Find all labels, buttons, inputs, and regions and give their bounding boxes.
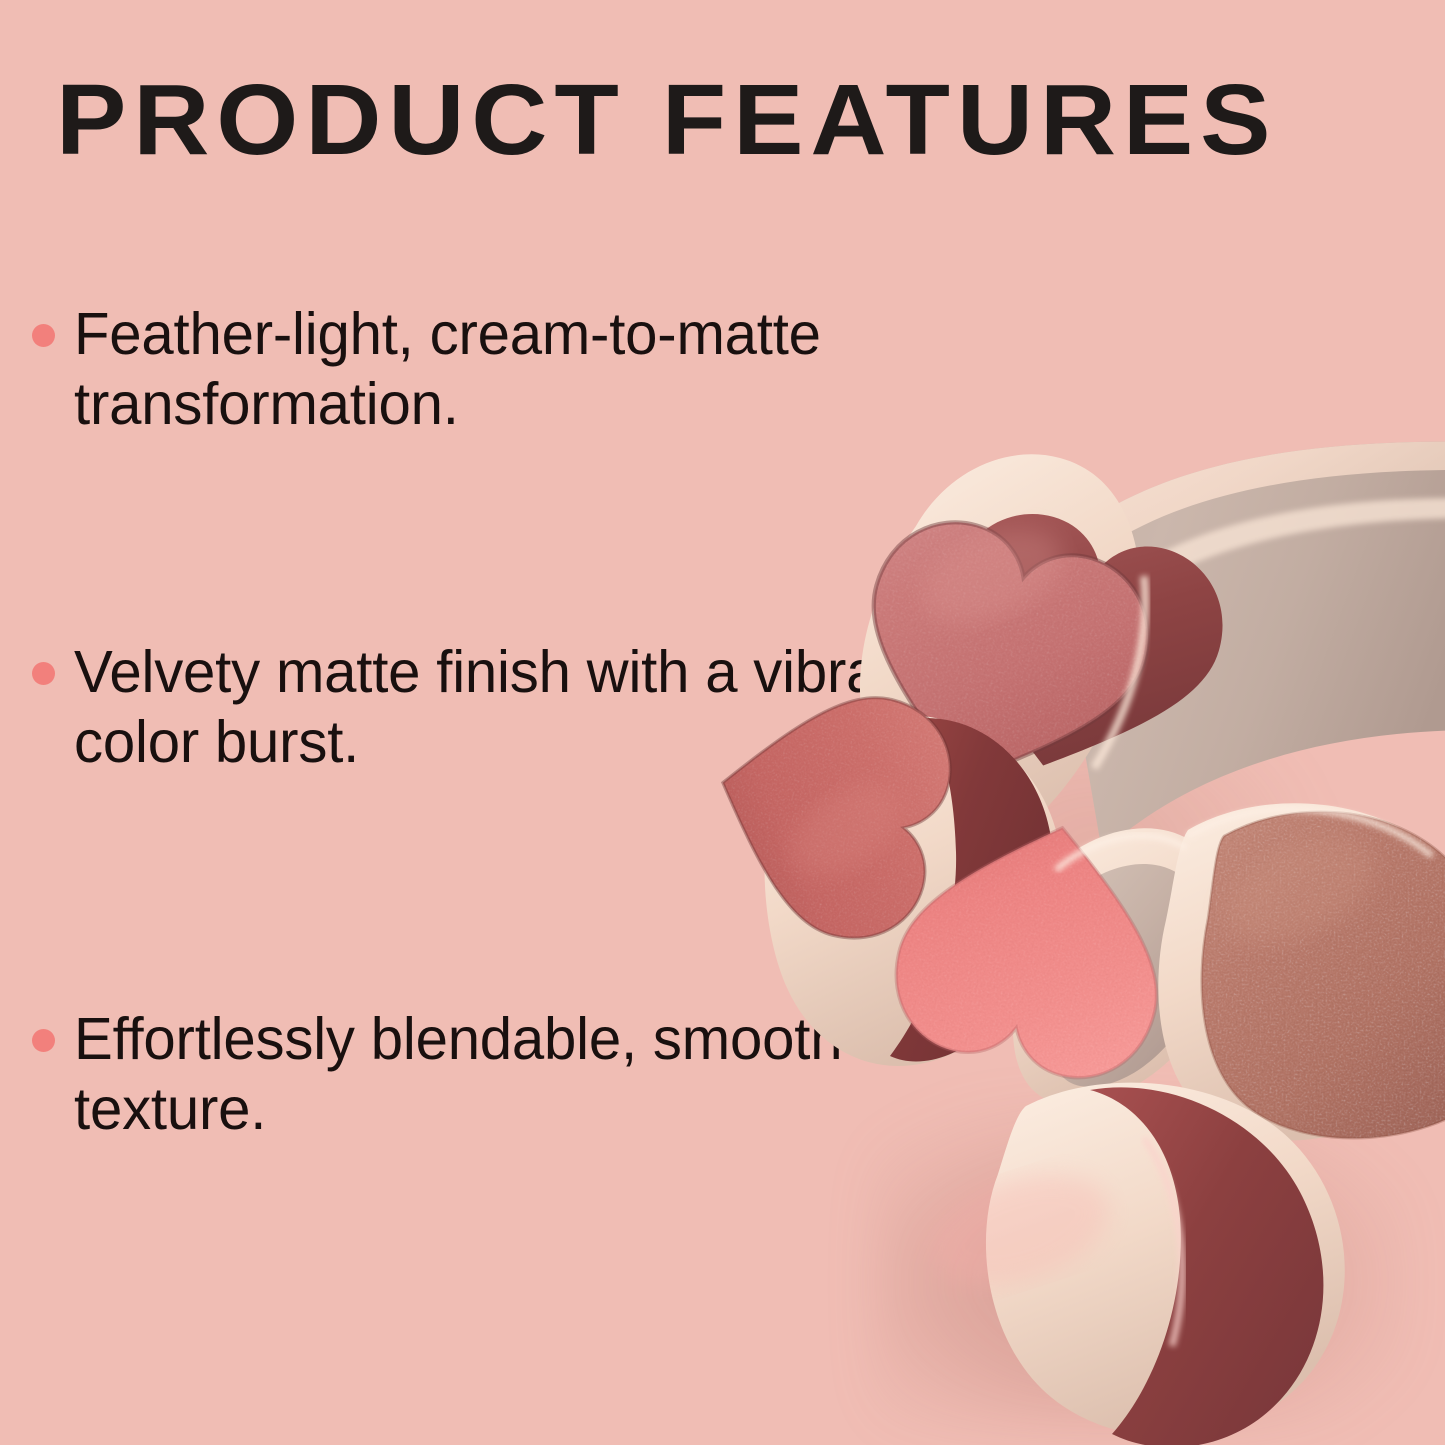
page-title: PRODUCT FEATURES xyxy=(56,70,1277,170)
heart-lipstick-illustration xyxy=(720,400,1445,1445)
heart-shade-terracotta-nude xyxy=(1202,812,1445,1139)
bullet-dot-icon xyxy=(32,662,55,685)
product-photo xyxy=(720,400,1445,1445)
bullet-dot-icon xyxy=(32,324,55,347)
bullet-dot-icon xyxy=(32,1029,55,1052)
marketing-banner: PRODUCT FEATURES Feather-light, cream-to… xyxy=(0,0,1445,1445)
